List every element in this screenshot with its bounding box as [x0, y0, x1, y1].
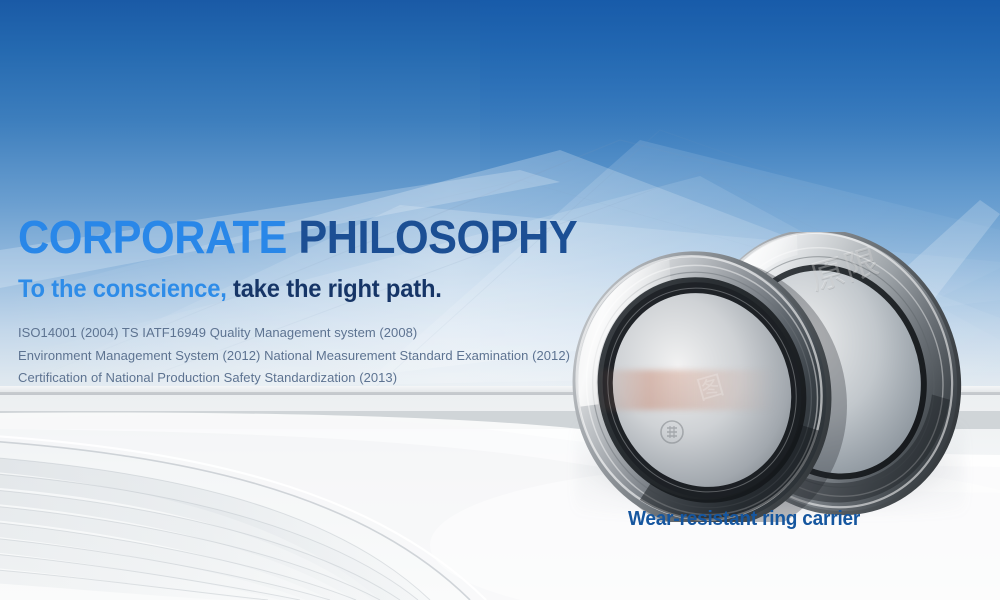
- subtitle-part-two: take the right path.: [233, 275, 442, 303]
- headline-word-corporate: CORPORATE: [18, 211, 287, 263]
- page-subtitle: To the conscience, take the right path.: [18, 274, 598, 304]
- product-caption: Wear-resistant ring carrier: [628, 507, 860, 531]
- list-item: Certification of National Production Saf…: [18, 367, 628, 390]
- list-item: Environment Management System (2012) Nat…: [18, 345, 628, 368]
- subtitle-part-one: To the conscience,: [18, 275, 227, 303]
- page-title: CORPORATE PHILOSOPHY: [18, 212, 591, 262]
- headline-copy-block: CORPORATE PHILOSOPHY To the conscience, …: [18, 212, 628, 390]
- list-item: ISO14001 (2004) TS IATF16949 Quality Man…: [18, 322, 628, 345]
- headline-word-philosophy: PHILOSOPHY: [298, 211, 577, 263]
- certification-list: ISO14001 (2004) TS IATF16949 Quality Man…: [18, 322, 628, 390]
- corporate-philosophy-banner: 原限 图 CORPORATE PHILOSOPHY To the conscie…: [0, 0, 1000, 600]
